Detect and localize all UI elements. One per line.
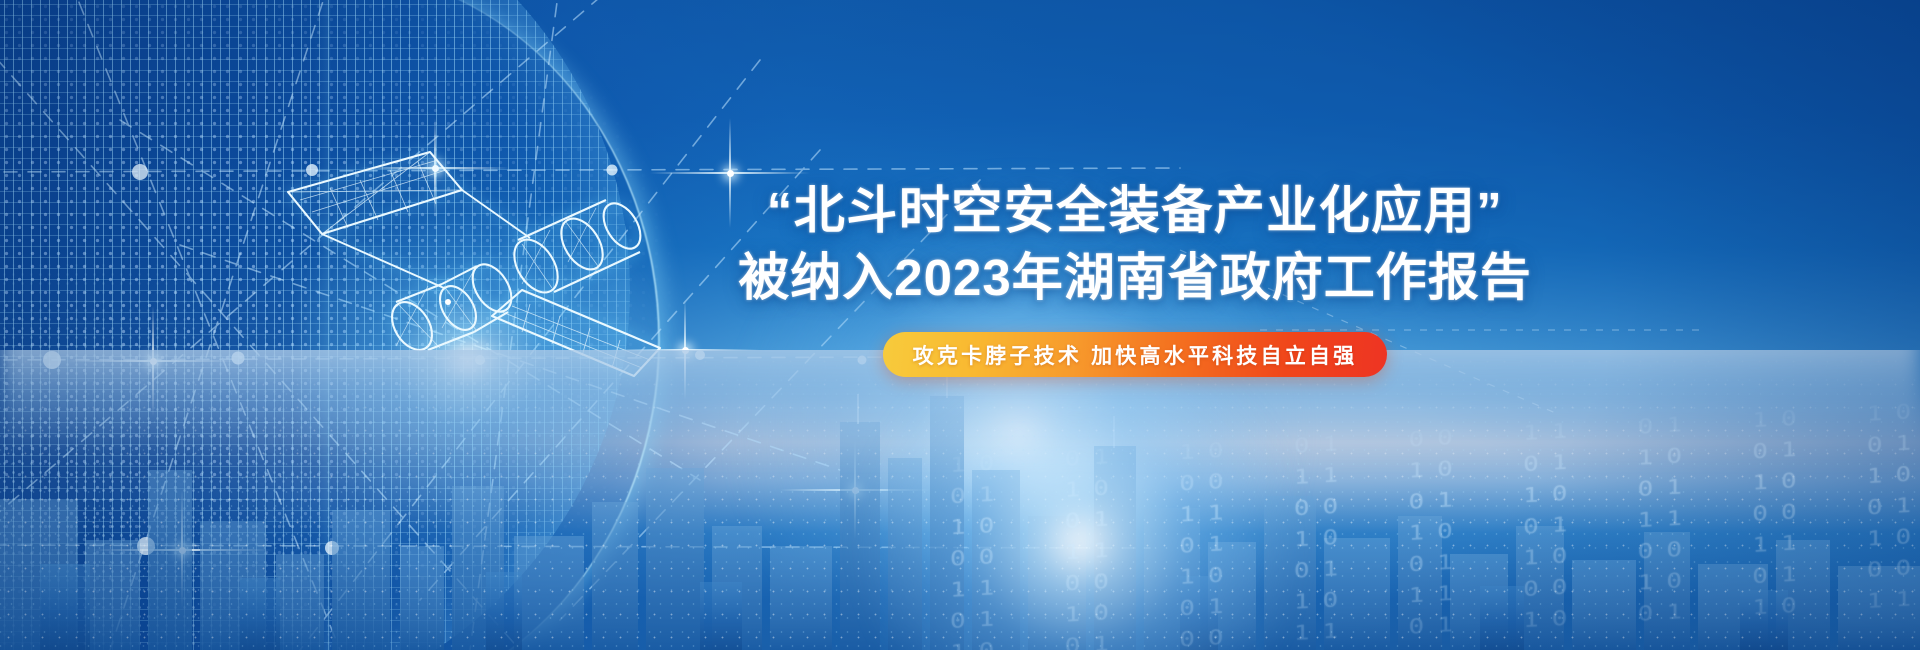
headline-line-1: “北斗时空安全装备产业化应用”	[650, 180, 1620, 241]
headline-line-2: 被纳入2023年湖南省政府工作报告	[650, 247, 1620, 308]
banner-hero: 10 01 10 01 00 11 01 10 10 01 01 00 11 1…	[0, 0, 1920, 650]
badge-container: 攻克卡脖子技术 加快高水平科技自立自强	[650, 332, 1620, 377]
hero-text-block: “北斗时空安全装备产业化应用” 被纳入2023年湖南省政府工作报告 攻克卡脖子技…	[650, 180, 1620, 377]
slogan-badge[interactable]: 攻克卡脖子技术 加快高水平科技自立自强	[883, 332, 1388, 377]
